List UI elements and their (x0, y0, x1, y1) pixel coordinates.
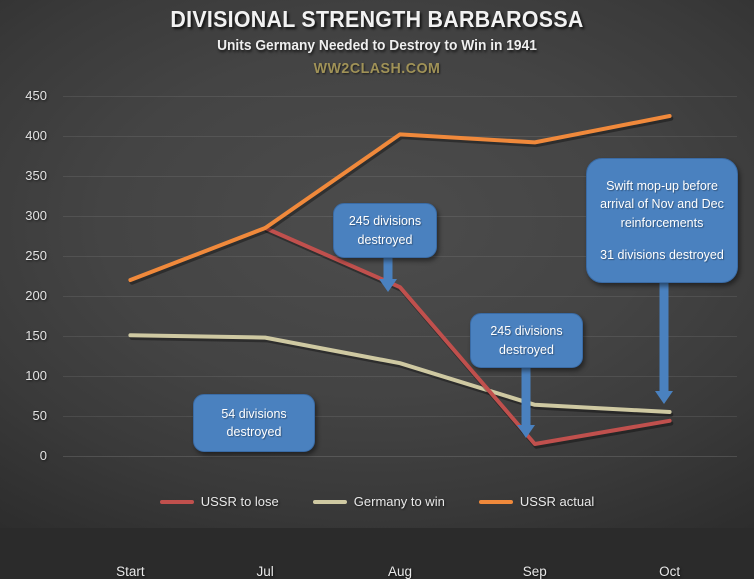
x-axis-tick-label: Start (75, 564, 185, 579)
legend-swatch (479, 500, 513, 504)
annotation-line: destroyed (499, 341, 554, 359)
page-title: DIVISIONAL STRENGTH BARBAROSSA (26, 6, 727, 33)
legend-swatch (160, 500, 194, 504)
y-axis-tick-label: 250 (0, 248, 47, 263)
x-axis-tick-label: Sep (480, 564, 590, 579)
title-block: DIVISIONAL STRENGTH BARBAROSSA Units Ger… (0, 6, 754, 77)
x-axis-tick-label: Aug (345, 564, 455, 579)
chart-container: DIVISIONAL STRENGTH BARBAROSSA Units Ger… (0, 0, 754, 528)
annotation-line: Swift mop-up before (606, 177, 718, 195)
annotation-line: reinforcements (621, 214, 704, 232)
y-axis-tick-label: 450 (0, 88, 47, 103)
annotation-line: 245 divisions (349, 212, 421, 230)
y-axis-tick-label: 300 (0, 208, 47, 223)
annotation-line: destroyed (358, 231, 413, 249)
legend-swatch (313, 500, 347, 504)
legend-label: USSR to lose (201, 494, 279, 509)
y-axis-tick-label: 50 (0, 408, 47, 423)
chart-legend: USSR to loseGermany to winUSSR actual (0, 494, 754, 509)
y-axis-tick-label: 150 (0, 328, 47, 343)
y-axis-tick-label: 200 (0, 288, 47, 303)
y-axis-tick-label: 400 (0, 128, 47, 143)
legend-item: USSR actual (479, 494, 594, 509)
annotation-oct: Swift mop-up beforearrival of Nov and De… (586, 158, 738, 283)
y-axis-tick-label: 100 (0, 368, 47, 383)
annotation-line: 31 divisions destroyed (600, 246, 724, 264)
y-axis-tick-label: 0 (0, 448, 47, 463)
watermark-label: WW2CLASH.COM (19, 60, 735, 77)
annotation-line: arrival of Nov and Dec (600, 195, 724, 213)
legend-item: USSR to lose (160, 494, 279, 509)
x-axis-tick-label: Jul (210, 564, 320, 579)
chart-subtitle: Units Germany Needed to Destroy to Win i… (19, 38, 735, 54)
annotation-jul: 54 divisionsdestroyed (193, 394, 315, 452)
annotation-line: 54 divisions (221, 405, 286, 423)
legend-label: Germany to win (354, 494, 445, 509)
x-axis-tick-label: Oct (615, 564, 725, 579)
annotation-line: 245 divisions (490, 322, 562, 340)
legend-item: Germany to win (313, 494, 445, 509)
annotation-sep: 245 divisionsdestroyed (470, 313, 583, 368)
annotation-aug: 245 divisionsdestroyed (333, 203, 437, 258)
annotation-line: destroyed (227, 423, 282, 441)
gridline (63, 456, 737, 457)
legend-label: USSR actual (520, 494, 594, 509)
y-axis-tick-label: 350 (0, 168, 47, 183)
